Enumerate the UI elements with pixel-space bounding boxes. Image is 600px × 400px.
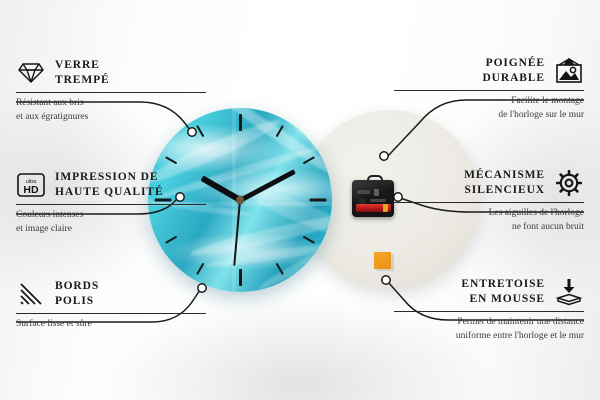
foam-spacer-icon xyxy=(554,277,584,307)
clock-mechanism xyxy=(352,175,394,217)
foam-spacer xyxy=(374,252,391,269)
mechanism-detail xyxy=(374,189,379,196)
feature-title: ENTRETOISE EN MOUSSE xyxy=(461,277,545,306)
clock-tick xyxy=(196,125,204,137)
mechanism-detail xyxy=(370,199,386,202)
product-infographic: VERRE TREMPÉ Résistant aux bris et aux é… xyxy=(0,0,600,400)
clock-tick xyxy=(239,269,242,286)
feature-high-quality-print: ultra HD IMPRESSION DE HAUTE QUALITÉ Cou… xyxy=(16,170,206,236)
ultra-hd-icon: ultra HD xyxy=(16,170,46,200)
feature-description: Surface lisse et sûre xyxy=(16,318,206,331)
feature-title: IMPRESSION DE HAUTE QUALITÉ xyxy=(55,170,164,199)
clock-tick xyxy=(309,199,326,202)
clock-hand-hub xyxy=(236,196,244,204)
battery-terminal xyxy=(383,204,388,212)
feature-polished-edges: BORDS POLIS Surface lisse et sûre xyxy=(16,279,206,332)
clock-tick xyxy=(196,263,204,275)
picture-hanger-icon xyxy=(554,56,584,86)
clock-tick xyxy=(239,114,242,131)
gear-icon xyxy=(554,168,584,198)
feature-header: ultra HD IMPRESSION DE HAUTE QUALITÉ xyxy=(16,170,206,200)
feature-header: POIGNÉE DURABLE xyxy=(394,56,584,86)
feature-description: Facilite le montage de l'horloge sur le … xyxy=(394,95,584,121)
divider xyxy=(16,204,206,205)
feature-durable-handle: POIGNÉE DURABLE Facilite le montage de l… xyxy=(394,56,584,122)
mechanism-detail xyxy=(357,190,370,194)
feature-title: VERRE TREMPÉ xyxy=(55,58,110,87)
divider xyxy=(394,311,584,312)
feature-tempered-glass: VERRE TREMPÉ Résistant aux bris et aux é… xyxy=(16,58,206,124)
feature-description: Permet de maintenir une distance uniform… xyxy=(394,316,584,342)
clock-tick xyxy=(303,236,315,244)
feature-title: MÉCANISME SILENCIEUX xyxy=(464,168,545,197)
feature-title: BORDS POLIS xyxy=(55,279,99,308)
feature-header: VERRE TREMPÉ xyxy=(16,58,206,88)
clock-tick xyxy=(165,236,177,244)
feature-silent-mechanism: MÉCANISME SILENCIEUX Les aiguilles d xyxy=(394,168,584,234)
svg-text:HD: HD xyxy=(23,184,39,196)
feature-header: BORDS POLIS xyxy=(16,279,206,309)
feature-description: Les aiguilles de l'horloge ne font aucun… xyxy=(394,207,584,233)
feature-foam-spacer: ENTRETOISE EN MOUSSE Permet de maintenir… xyxy=(394,277,584,343)
divider xyxy=(16,313,206,314)
feature-header: MÉCANISME SILENCIEUX xyxy=(394,168,584,198)
polished-edges-icon xyxy=(16,279,46,309)
divider xyxy=(16,92,206,93)
feature-title: POIGNÉE DURABLE xyxy=(482,56,545,85)
feature-header: ENTRETOISE EN MOUSSE xyxy=(394,277,584,307)
diamond-icon xyxy=(16,58,46,88)
divider xyxy=(394,202,584,203)
feature-description: Couleurs intenses et image claire xyxy=(16,209,206,235)
feature-description: Résistant aux bris et aux égratignures xyxy=(16,97,206,123)
divider xyxy=(394,90,584,91)
